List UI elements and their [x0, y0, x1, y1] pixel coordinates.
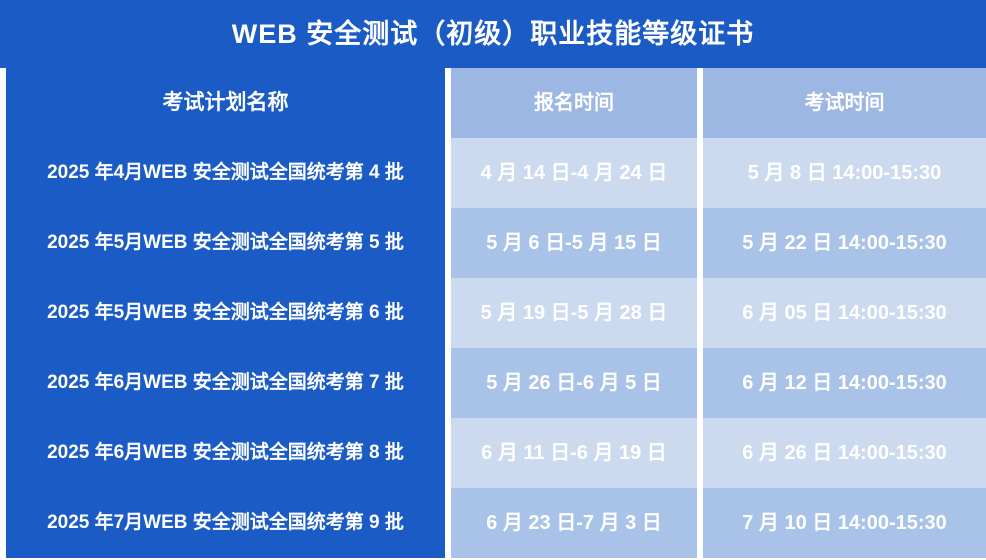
- cell-exam-time: 5 月 22 日 14:00-15:30: [703, 208, 986, 278]
- exam-schedule-table: 考试计划名称 报名时间 考试时间 2025 年4月WEB 安全测试全国统考第 4…: [0, 68, 986, 560]
- cell-registration-time: 6 月 23 日-7 月 3 日: [451, 488, 697, 558]
- table-row: 2025 年6月WEB 安全测试全国统考第 8 批 6 月 11 日-6 月 1…: [0, 418, 986, 488]
- table-row: 2025 年7月WEB 安全测试全国统考第 9 批 6 月 23 日-7 月 3…: [0, 488, 986, 558]
- cell-registration-time: 5 月 19 日-5 月 28 日: [451, 278, 697, 348]
- cell-registration-time: 5 月 26 日-6 月 5 日: [451, 348, 697, 418]
- table-row: 2025 年6月WEB 安全测试全国统考第 7 批 5 月 26 日-6 月 5…: [0, 348, 986, 418]
- cell-exam-time: 5 月 8 日 14:00-15:30: [703, 138, 986, 208]
- cell-plan-name: 2025 年6月WEB 安全测试全国统考第 7 批: [6, 348, 445, 418]
- cell-registration-time: 4 月 14 日-4 月 24 日: [451, 138, 697, 208]
- table-row: 2025 年5月WEB 安全测试全国统考第 5 批 5 月 6 日-5 月 15…: [0, 208, 986, 278]
- column-header-exam-time: 考试时间: [703, 68, 986, 138]
- cell-plan-name: 2025 年4月WEB 安全测试全国统考第 4 批: [6, 138, 445, 208]
- cell-plan-name: 2025 年7月WEB 安全测试全国统考第 9 批: [6, 488, 445, 558]
- cell-plan-name: 2025 年6月WEB 安全测试全国统考第 8 批: [6, 418, 445, 488]
- cell-exam-time: 7 月 10 日 14:00-15:30: [703, 488, 986, 558]
- table-header-row: 考试计划名称 报名时间 考试时间: [0, 68, 986, 138]
- cell-plan-name: 2025 年5月WEB 安全测试全国统考第 5 批: [6, 208, 445, 278]
- cell-registration-time: 5 月 6 日-5 月 15 日: [451, 208, 697, 278]
- table-row: 2025 年4月WEB 安全测试全国统考第 4 批 4 月 14 日-4 月 2…: [0, 138, 986, 208]
- page-title: WEB 安全测试（初级）职业技能等级证书: [232, 21, 755, 48]
- cell-exam-time: 6 月 05 日 14:00-15:30: [703, 278, 986, 348]
- cell-exam-time: 6 月 26 日 14:00-15:30: [703, 418, 986, 488]
- column-header-registration-time: 报名时间: [451, 68, 697, 138]
- cell-registration-time: 6 月 11 日-6 月 19 日: [451, 418, 697, 488]
- table-row: 2025 年5月WEB 安全测试全国统考第 6 批 5 月 19 日-5 月 2…: [0, 278, 986, 348]
- column-header-plan-name: 考试计划名称: [6, 68, 445, 138]
- cell-exam-time: 6 月 12 日 14:00-15:30: [703, 348, 986, 418]
- certificate-title-band: WEB 安全测试（初级）职业技能等级证书: [0, 0, 986, 68]
- exam-schedule-card: WEB 安全测试（初级）职业技能等级证书 考试计划名称 报名时间 考试时间 20…: [0, 0, 986, 560]
- cell-plan-name: 2025 年5月WEB 安全测试全国统考第 6 批: [6, 278, 445, 348]
